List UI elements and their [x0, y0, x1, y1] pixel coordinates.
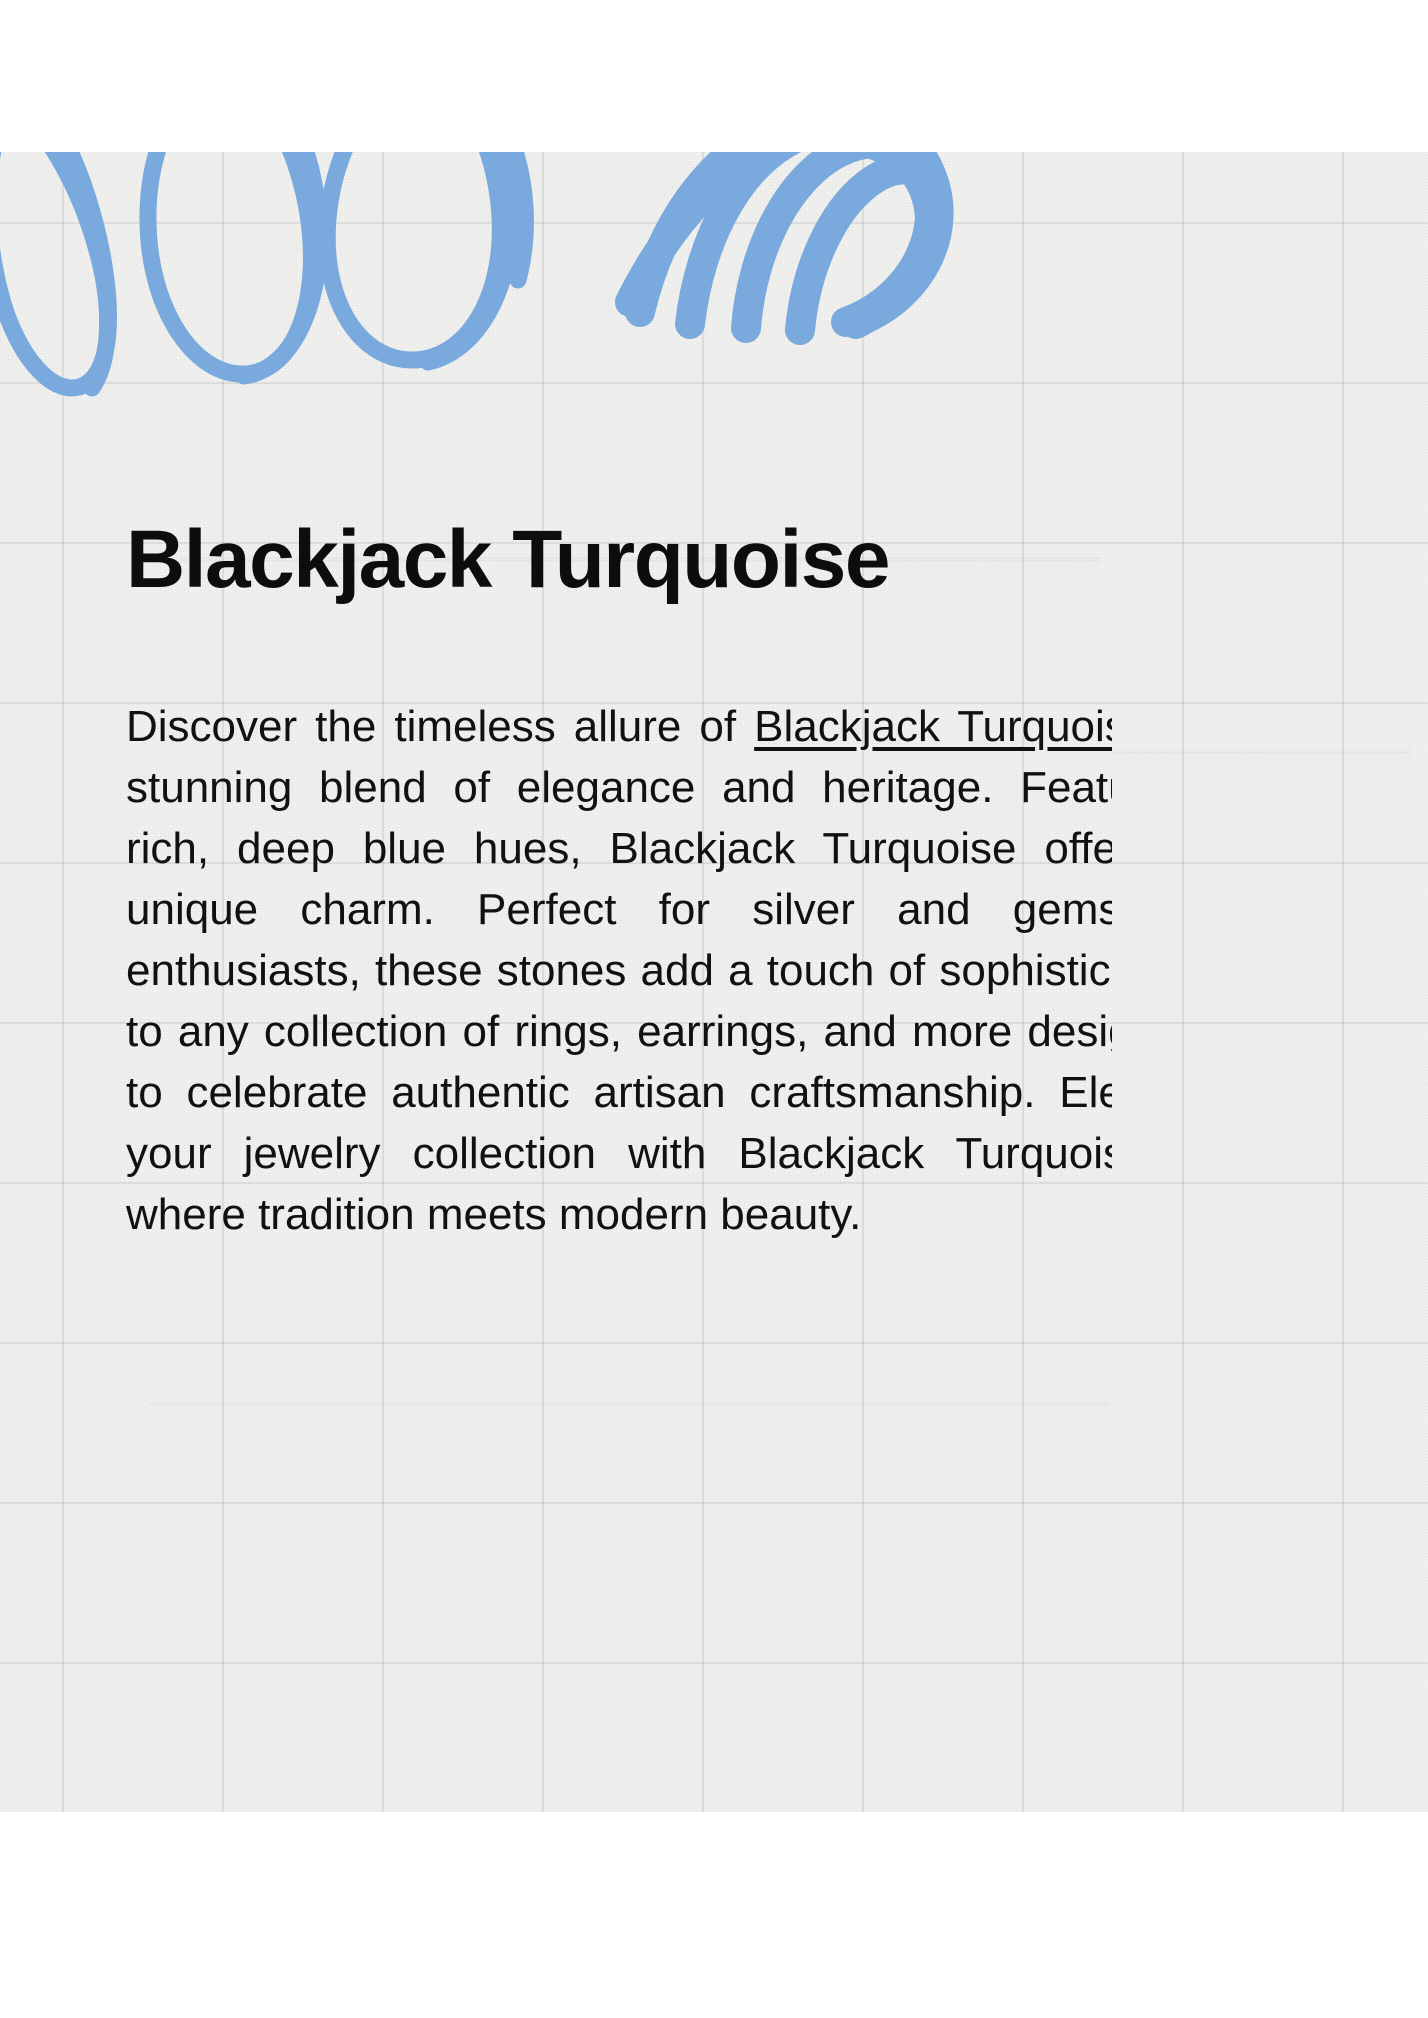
blackjack-turquoise-link[interactable]: Blackjack Turquoise	[754, 702, 1112, 751]
paragraph-lead: Discover the timeless allure of	[126, 702, 754, 751]
article-paragraph: Discover the timeless allure of Blackjac…	[126, 696, 1112, 1245]
paper-smudge	[1110, 750, 1410, 754]
paragraph-rest: , a stunning blend of elegance and herit…	[126, 702, 1112, 1239]
page-title: Blackjack Turquoise	[126, 517, 1112, 603]
article-content: Blackjack Turquoise Discover the timeles…	[0, 152, 1112, 1812]
